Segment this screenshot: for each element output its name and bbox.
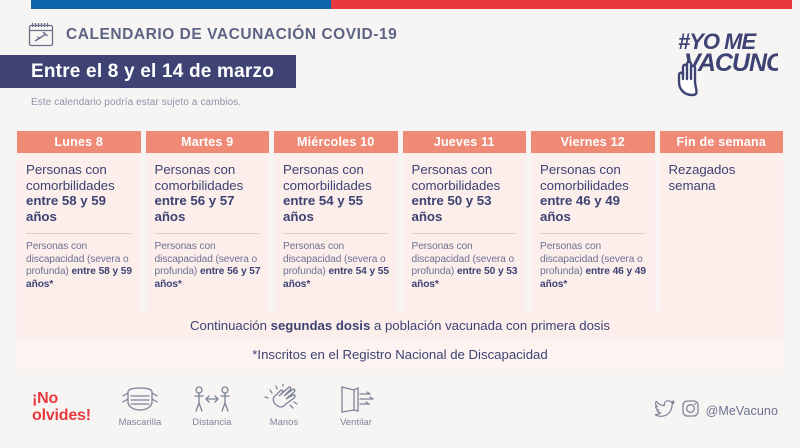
calendar-syringe-icon [28,22,54,47]
social-links[interactable]: @MeVacuno [655,400,778,422]
column-divider [540,233,645,234]
top-bar-left-spacer [0,0,31,9]
calendar-column-viernes: Viernes 12 Personas con comorbilidades e… [531,131,655,311]
calendar-column-fin-de-semana: Fin de semana Rezagados semana [660,131,784,311]
column-header-fin-de-semana: Fin de semana [660,131,784,153]
column-divider [26,233,131,234]
header: CALENDARIO DE VACUNACIÓN COVID-19 Entre … [0,9,800,119]
svg-text:VACUNO: VACUNO [684,49,778,77]
twitter-icon[interactable] [655,400,675,422]
second-dose-notice: Continuación segundas dosis a población … [17,311,783,339]
second-dose-notice-text: Continuación segundas dosis a población … [190,318,610,333]
reminder-heading: ¡No olvides! [32,390,91,424]
tip-label-distancia: Distancia [192,417,231,427]
instagram-icon[interactable] [682,400,699,422]
page-title: CALENDARIO DE VACUNACIÓN COVID-19 [66,26,397,44]
calendar-column-jueves: Jueves 11 Personas con comorbilidades en… [403,131,527,311]
brand-logo-graphic: #YO ME VACUNO [670,23,778,97]
tip-label-manos: Manos [270,417,298,427]
ventilate-window-icon [336,384,376,414]
date-range-text: Entre el 8 y el 14 de marzo [0,61,274,83]
top-bar-blue-segment [31,0,331,9]
face-mask-icon [120,384,160,414]
disclaimer-text: Este calendario podría estar sujeto a ca… [31,97,241,108]
primary-text-fin-de-semana: Rezagados semana [669,162,776,193]
column-header-miercoles: Miércoles 10 [274,131,398,153]
social-distance-icon [192,384,232,414]
primary-text-martes: Personas con comorbilidades entre 56 y 5… [155,162,262,224]
registry-footnote: *Inscritos en el Registro Nacional de Di… [17,339,783,370]
tip-label-mascarilla: Mascarilla [119,417,162,427]
calendar-column-lunes: Lunes 8 Personas con comorbilidades entr… [17,131,141,311]
tip-ventilar: Ventilar [328,384,384,427]
secondary-text-lunes: Personas con discapacidad (severa o prof… [26,241,133,291]
column-body-fin-de-semana: Rezagados semana [660,153,784,311]
column-divider [283,233,388,234]
top-bar-right-spacer [792,0,800,9]
calendar-grid: Lunes 8 Personas con comorbilidades entr… [17,131,783,311]
reminder-line-1: ¡No [32,390,91,407]
column-body-lunes: Personas con comorbilidades entre 58 y 5… [17,153,141,311]
column-divider [412,233,517,234]
column-body-miercoles: Personas con comorbilidades entre 54 y 5… [274,153,398,311]
yo-me-vacuno-logo: #YO ME VACUNO [670,23,778,97]
column-header-jueves: Jueves 11 [403,131,527,153]
secondary-text-martes: Personas con discapacidad (severa o prof… [155,241,262,291]
column-header-martes: Martes 9 [146,131,270,153]
wash-hands-icon [264,384,304,414]
social-handle[interactable]: @MeVacuno [706,404,778,418]
tip-mascarilla: Mascarilla [112,384,168,427]
calendar-column-miercoles: Miércoles 10 Personas con comorbilidades… [274,131,398,311]
calendar-column-martes: Martes 9 Personas con comorbilidades ent… [146,131,270,311]
primary-text-lunes: Personas con comorbilidades entre 58 y 5… [26,162,133,224]
primary-text-miercoles: Personas con comorbilidades entre 54 y 5… [283,162,390,224]
date-range-band: Entre el 8 y el 14 de marzo [0,55,296,88]
title-row: CALENDARIO DE VACUNACIÓN COVID-19 [28,22,397,47]
column-header-viernes: Viernes 12 [531,131,655,153]
column-body-martes: Personas con comorbilidades entre 56 y 5… [146,153,270,311]
column-header-lunes: Lunes 8 [17,131,141,153]
column-divider [155,233,260,234]
reminder-line-2: olvides! [32,407,91,424]
secondary-text-viernes: Personas con discapacidad (severa o prof… [540,241,647,291]
secondary-text-miercoles: Personas con discapacidad (severa o prof… [283,241,390,291]
primary-text-jueves: Personas con comorbilidades entre 50 y 5… [412,162,519,224]
column-body-jueves: Personas con comorbilidades entre 50 y 5… [403,153,527,311]
column-body-viernes: Personas con comorbilidades entre 46 y 4… [531,153,655,311]
secondary-text-jueves: Personas con discapacidad (severa o prof… [412,241,519,291]
tip-label-ventilar: Ventilar [340,417,372,427]
top-color-bar [0,0,800,9]
top-bar-red-segment [331,0,792,9]
tip-manos: Manos [256,384,312,427]
primary-text-viernes: Personas con comorbilidades entre 46 y 4… [540,162,647,224]
prevention-tips: Mascarilla Distancia [112,384,384,427]
tip-distancia: Distancia [184,384,240,427]
footer: ¡No olvides! Mascarilla [0,378,800,448]
registry-footnote-text: *Inscritos en el Registro Nacional de Di… [252,347,547,362]
